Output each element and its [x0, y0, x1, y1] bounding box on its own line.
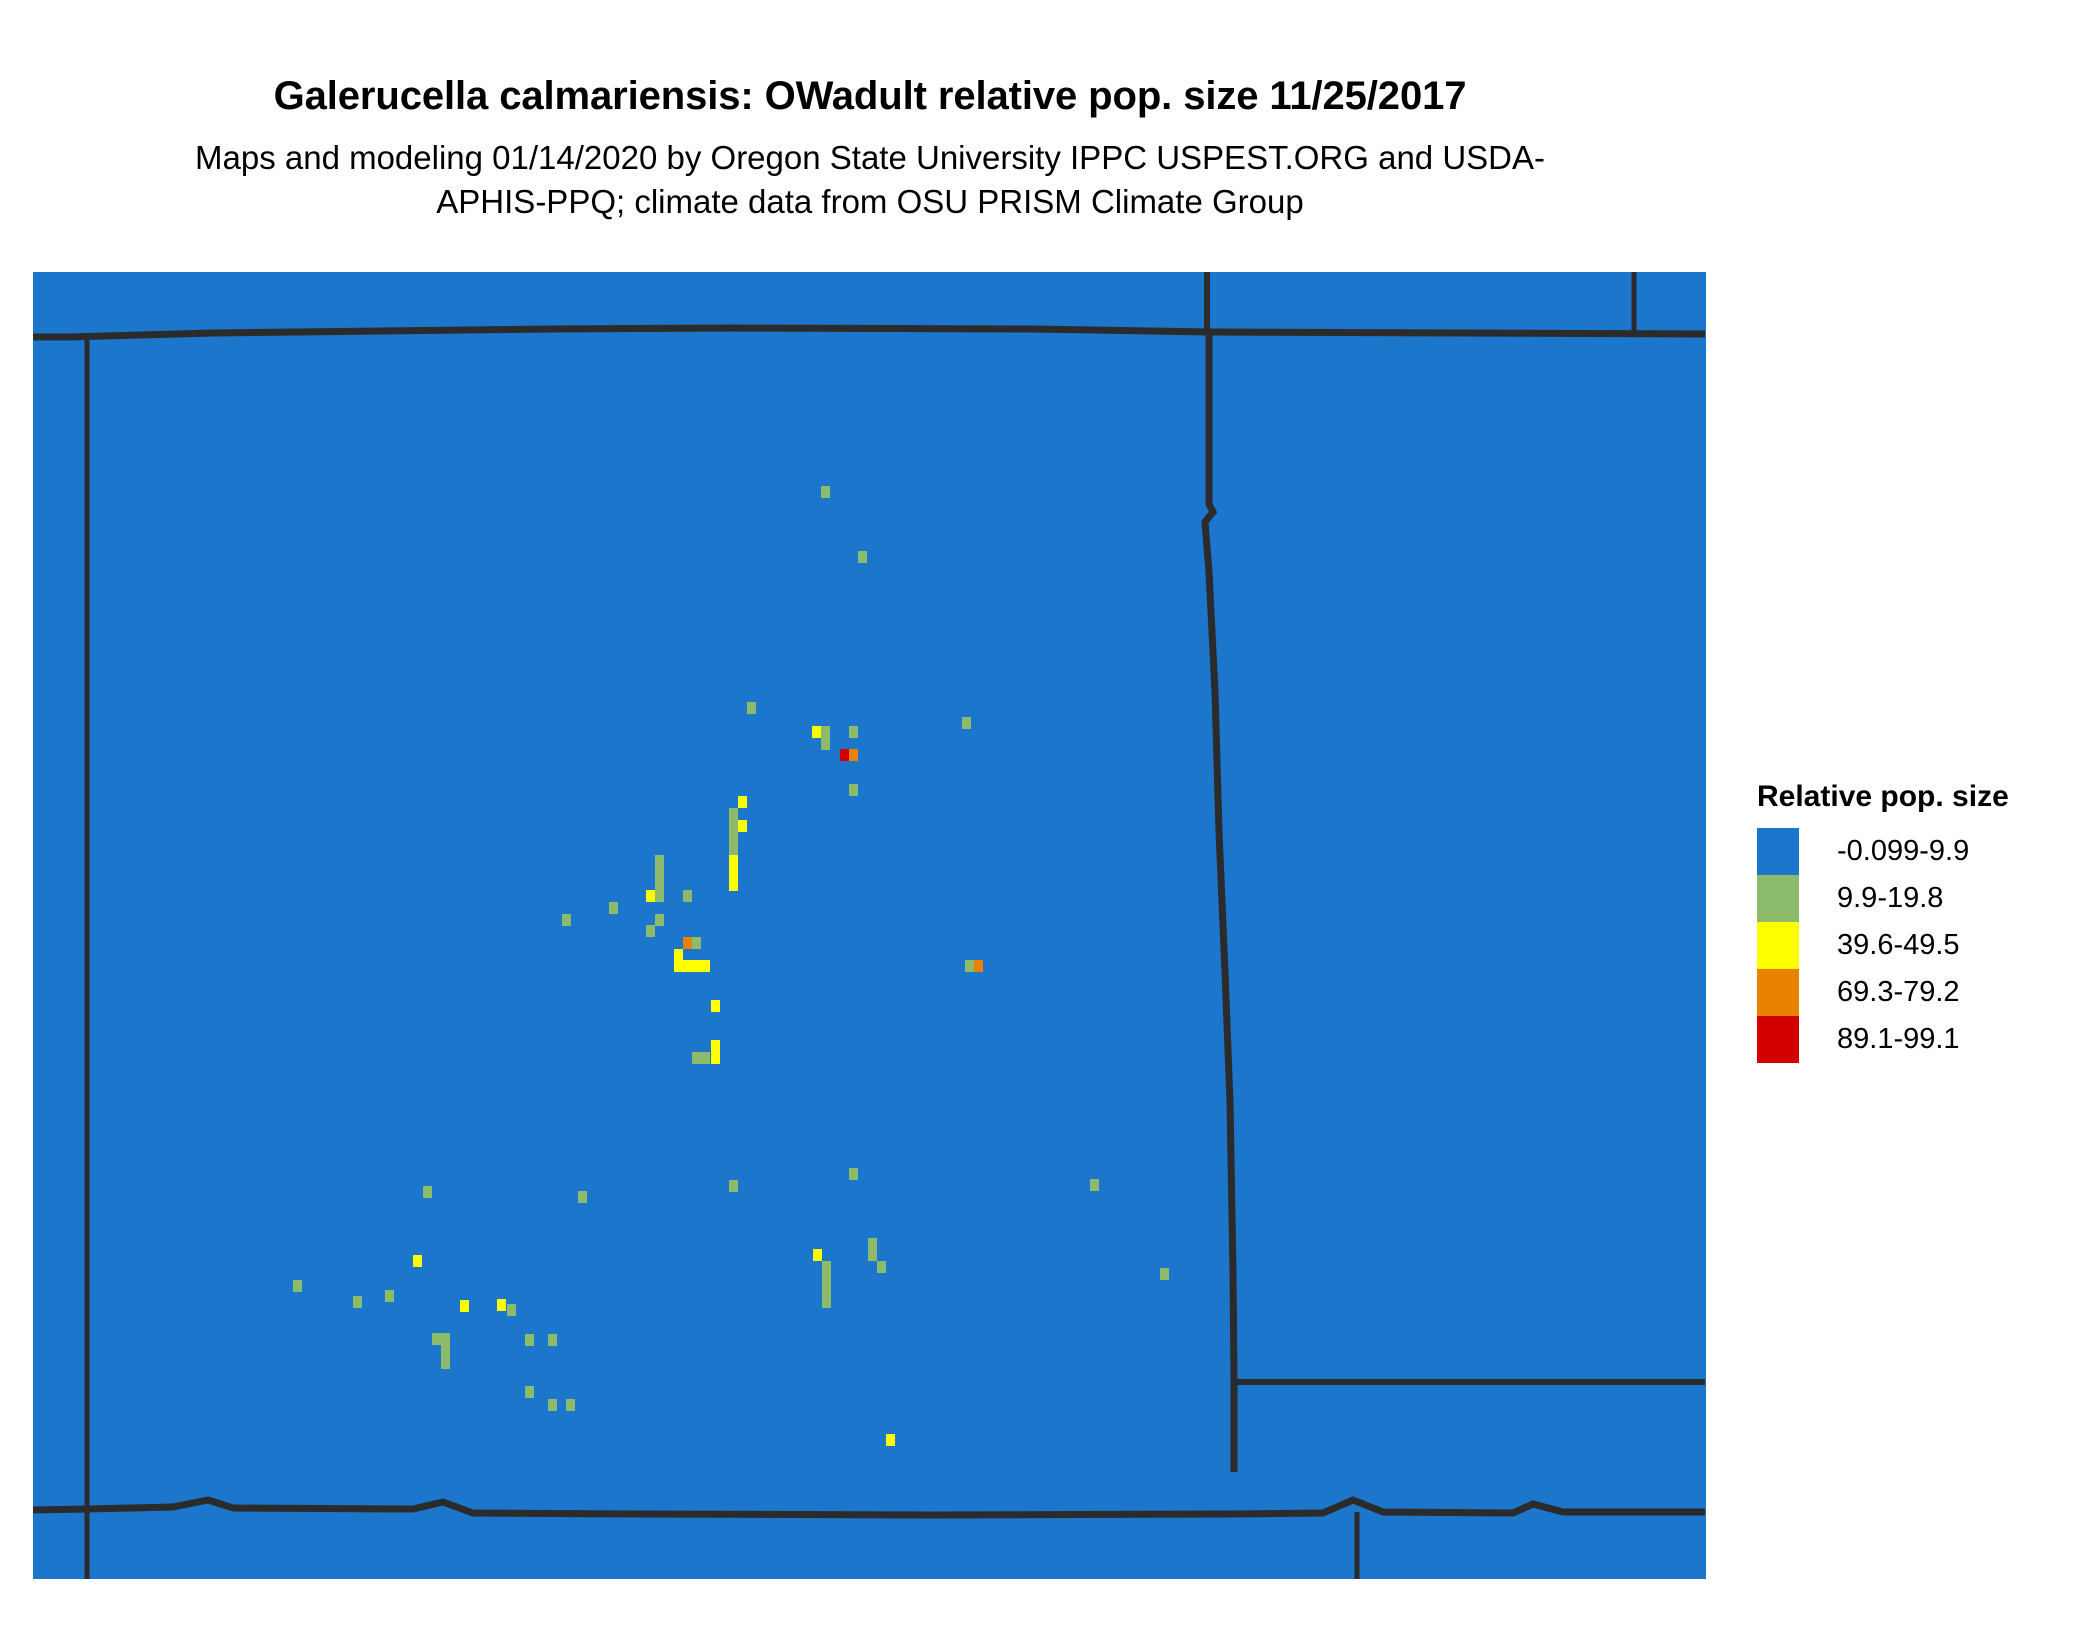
legend-color-swatch-2 — [1757, 875, 1799, 922]
legend-item-label: 39.6-49.5 — [1837, 931, 1960, 960]
map-header: Galerucella calmariensis: OWadult relati… — [0, 0, 1740, 224]
legend-color-swatch-4 — [1757, 969, 1799, 1016]
legend-item[interactable]: 9.9-19.8 — [1757, 875, 2087, 922]
legend-color-swatch-5 — [1757, 1016, 1799, 1063]
map-canvas[interactable] — [33, 272, 1706, 1579]
boundary-vector-layer — [33, 272, 1706, 1579]
legend-color-swatch-3 — [1757, 922, 1799, 969]
state-boundary-north — [33, 328, 1705, 337]
state-boundary-east — [1205, 332, 1234, 1472]
legend-item-label: 69.3-79.2 — [1837, 978, 1960, 1007]
map-attribution-subtitle: Maps and modeling 01/14/2020 by Oregon S… — [0, 116, 1740, 224]
legend-item[interactable]: 69.3-79.2 — [1757, 969, 2087, 1016]
legend-item[interactable]: 89.1-99.1 — [1757, 1016, 2087, 1063]
legend-item-label: 89.1-99.1 — [1837, 1025, 1960, 1054]
legend-item-label: -0.099-9.9 — [1837, 837, 1969, 866]
state-boundary-south — [33, 1500, 1705, 1515]
legend-color-swatch-1 — [1757, 828, 1799, 875]
page-title: Galerucella calmariensis: OWadult relati… — [0, 0, 1740, 116]
legend-item[interactable]: -0.099-9.9 — [1757, 828, 2087, 875]
legend-item-label: 9.9-19.8 — [1837, 884, 1943, 913]
legend-title: Relative pop. size — [1757, 782, 2087, 812]
map-legend: Relative pop. size -0.099-9.9 9.9-19.8 3… — [1757, 782, 2087, 1063]
legend-item[interactable]: 39.6-49.5 — [1757, 922, 2087, 969]
